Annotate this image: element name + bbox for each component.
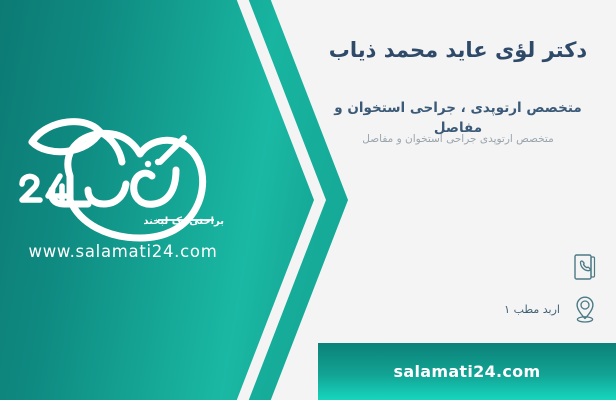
business-card: براحتی یک لبخند www.salamati24.com دکتر …	[0, 0, 616, 400]
brand-tagline: براحتی یک لبخند	[143, 216, 224, 227]
doctor-specialty-secondary: متخصص ارتوپدی جراحی استخوان و مفاصل	[318, 132, 598, 148]
brand-url[interactable]: www.salamati24.com	[8, 242, 238, 261]
contact-list: اربد مطب ۱	[312, 246, 602, 330]
brand-logo: براحتی یک لبخند www.salamati24.com	[8, 104, 238, 279]
footer-bar[interactable]: salamati24.com	[318, 343, 616, 400]
contact-address-row[interactable]: اربد مطب ۱	[312, 288, 602, 330]
card-content: دکتر لؤی عاید محمد ذیاب متخصص ارتوپدی ، …	[300, 0, 616, 400]
contact-phone-row[interactable]	[312, 246, 602, 288]
doctor-name: دکتر لؤی عاید محمد ذیاب	[318, 36, 598, 65]
phone-book-icon[interactable]	[568, 248, 602, 286]
contact-address-label: اربد مطب ۱	[504, 303, 560, 316]
footer-website: salamati24.com	[394, 362, 541, 381]
location-pin-icon[interactable]	[568, 290, 602, 328]
